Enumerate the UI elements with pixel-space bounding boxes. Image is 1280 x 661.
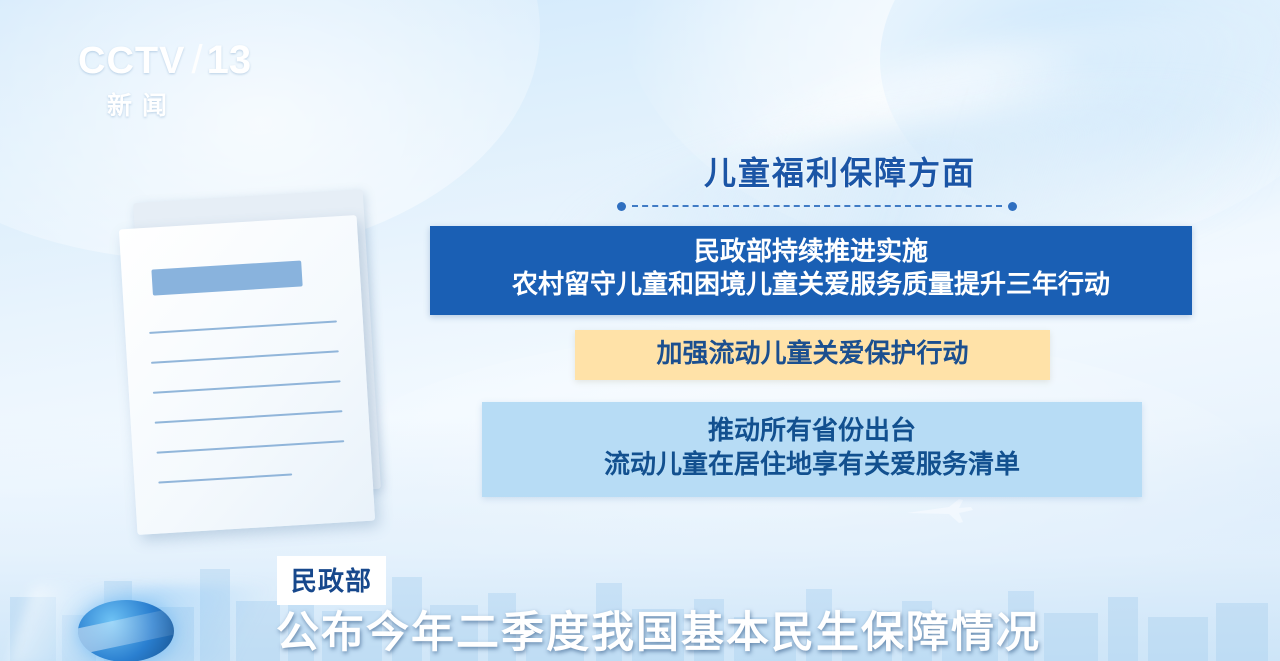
document-header-bar	[151, 260, 302, 295]
info-block-yellow: 加强流动儿童关爱保护行动	[575, 330, 1050, 380]
cctv13-logo: CCTV / 13 新闻	[78, 40, 278, 130]
document-line	[153, 380, 341, 393]
document-line	[157, 440, 345, 453]
info-block-lightblue-line-2: 流动儿童在居住地享有关爱服务清单	[482, 448, 1142, 482]
info-block-blue-line-1: 民政部持续推进实施	[430, 236, 1192, 269]
info-block-lightblue-line-1: 推动所有省份出台	[482, 414, 1142, 448]
document-line	[149, 320, 337, 333]
info-block-blue-line-2: 农村留守儿童和困境儿童关爱服务质量提升三年行动	[430, 269, 1192, 302]
logo-chinese-label: 新闻	[78, 86, 206, 122]
section-headline: 儿童福利保障方面	[648, 148, 1032, 194]
dotted-divider	[617, 200, 1017, 212]
document-front-sheet	[119, 215, 375, 535]
airplane-icon	[905, 497, 975, 525]
broadcast-screen: CCTV / 13 新闻 儿童福利保障方面 民政部持续推进实施 农村留守儿童和困…	[0, 0, 1280, 661]
globe-icon	[78, 600, 174, 661]
info-block-lightblue: 推动所有省份出台 流动儿童在居住地享有关爱服务清单	[482, 402, 1142, 497]
document-line	[155, 410, 343, 423]
info-block-yellow-line-1: 加强流动儿童关爱保护行动	[575, 339, 1050, 370]
divider-dot-right	[1008, 202, 1017, 211]
divider-dash	[632, 205, 1002, 207]
logo-cctv-text: CCTV	[78, 42, 185, 80]
document-stack-icon	[92, 196, 452, 556]
logo-channel-number: 13	[207, 40, 252, 80]
lower-third-title: 公布今年二季度我国基本民生保障情况	[276, 598, 1226, 660]
document-line	[151, 350, 339, 363]
logo-slash: /	[191, 40, 202, 80]
document-line	[158, 473, 292, 483]
divider-dot-left	[617, 202, 626, 211]
info-block-blue: 民政部持续推进实施 农村留守儿童和困境儿童关爱服务质量提升三年行动	[430, 226, 1192, 315]
